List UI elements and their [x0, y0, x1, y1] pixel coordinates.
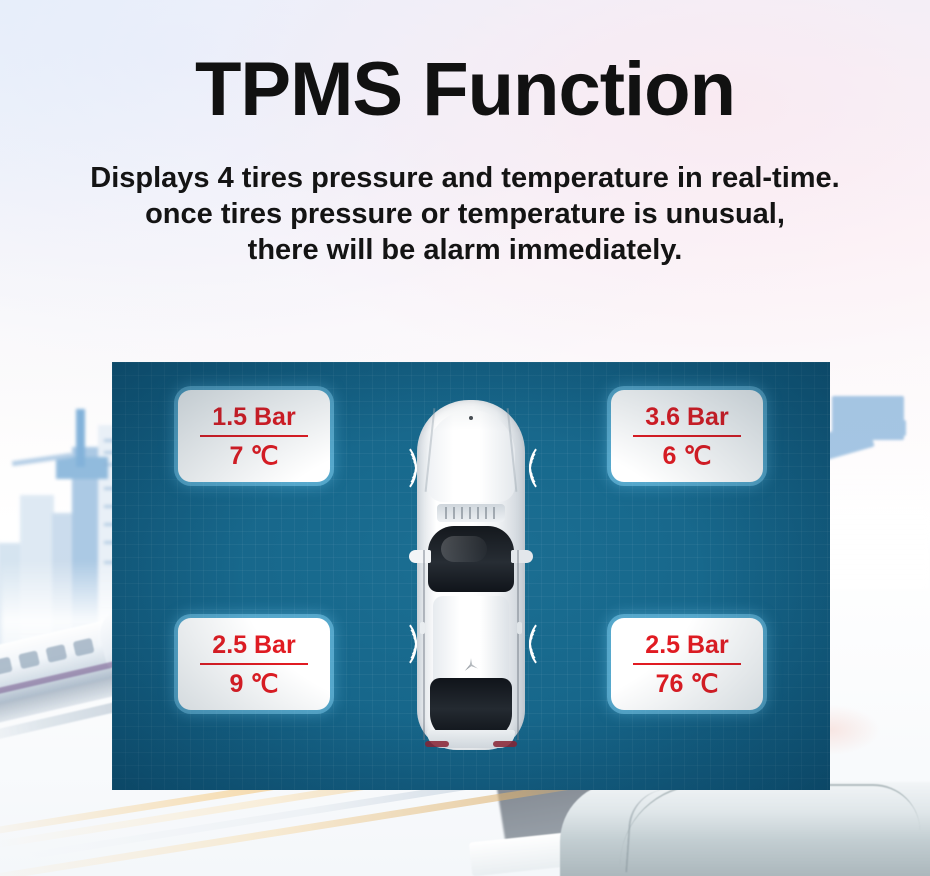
- subtitle-line-1: Displays 4 tires pressure and temperatur…: [0, 160, 930, 196]
- panel-vignette: [112, 362, 830, 790]
- subtitle-line-3: there will be alarm immediately.: [0, 232, 930, 268]
- page-subtitle: Displays 4 tires pressure and temperatur…: [0, 160, 930, 268]
- promo-banner: TPMS Function Displays 4 tires pressure …: [0, 0, 930, 876]
- tpms-diagram-panel: 1.5 Bar 7 ℃ 3.6 Bar 6 ℃ 2.5 Bar 9 ℃ 2.5 …: [112, 362, 830, 790]
- page-title: TPMS Function: [0, 48, 930, 132]
- subtitle-line-2: once tires pressure or temperature is un…: [0, 196, 930, 232]
